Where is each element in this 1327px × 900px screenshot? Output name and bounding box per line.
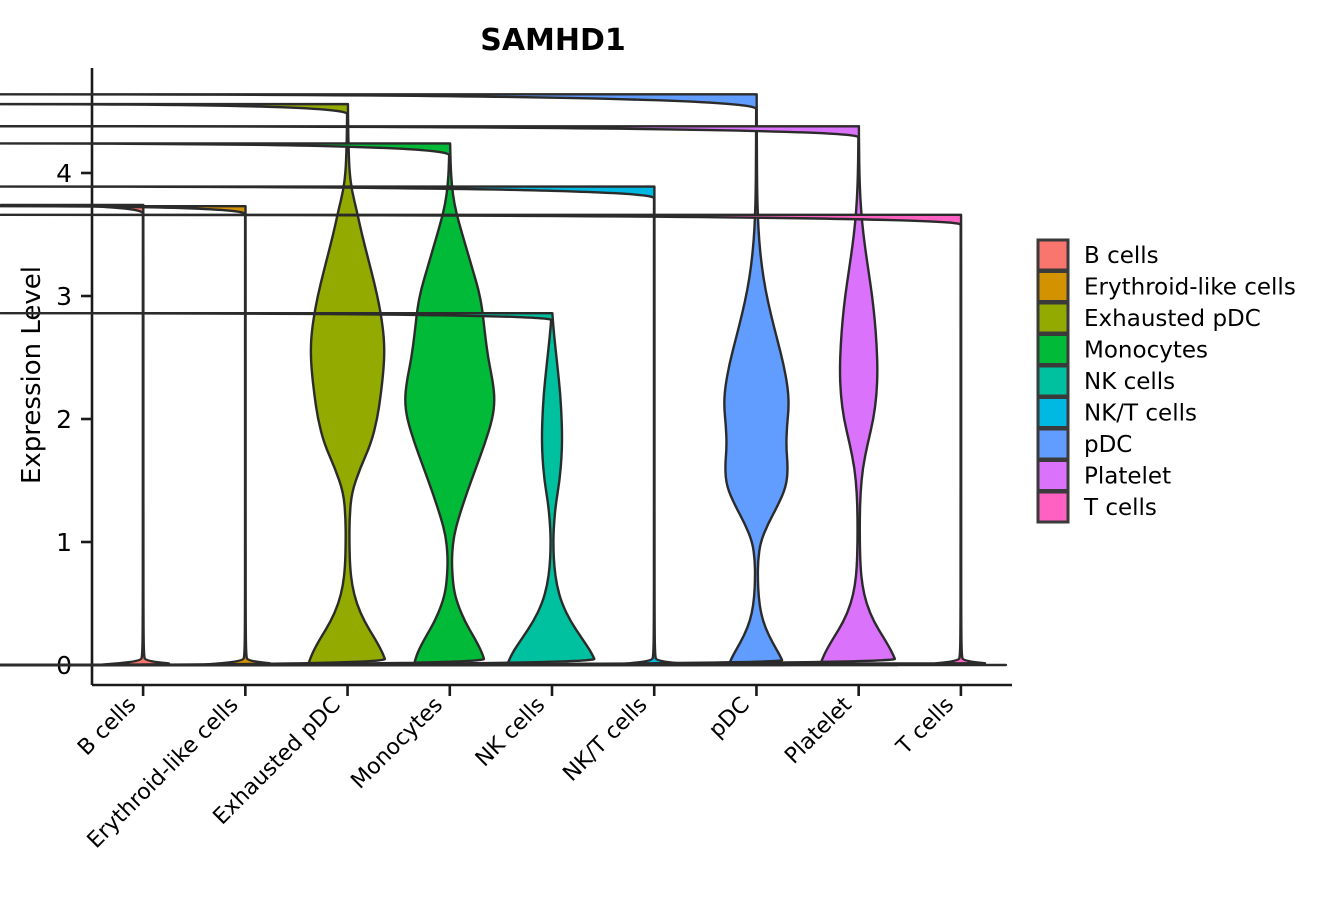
y-tick-label: 3 <box>56 282 72 311</box>
legend-swatch[interactable] <box>1038 429 1068 459</box>
legend-label: B cells <box>1084 243 1159 269</box>
y-tick-label: 2 <box>56 405 72 434</box>
legend-label: pDC <box>1084 432 1132 458</box>
legend-swatch[interactable] <box>1038 240 1068 270</box>
violin-plot-figure: SAMHD1 Expression Level 01234 B cellsEry… <box>0 0 1327 900</box>
figure-canvas: SAMHD1 Expression Level 01234 B cellsEry… <box>0 0 1327 900</box>
legend-swatch[interactable] <box>1038 492 1068 522</box>
legend-swatch[interactable] <box>1038 398 1068 428</box>
legend-label: Platelet <box>1084 464 1171 490</box>
legend-swatch[interactable] <box>1038 366 1068 396</box>
y-axis-title: Expression Level <box>17 266 47 484</box>
legend-label: T cells <box>1083 495 1157 521</box>
page-title: SAMHD1 <box>480 23 626 58</box>
legend-label: Monocytes <box>1084 338 1208 364</box>
legend-label: NK cells <box>1084 369 1175 395</box>
legend-label: NK/T cells <box>1084 401 1197 427</box>
y-tick-label: 1 <box>56 528 72 557</box>
legend-swatch[interactable] <box>1038 272 1068 302</box>
legend-label: Exhausted pDC <box>1084 306 1261 332</box>
legend-swatch[interactable] <box>1038 335 1068 365</box>
legend-label: Erythroid-like cells <box>1084 275 1296 301</box>
legend-swatch[interactable] <box>1038 303 1068 333</box>
y-tick-label: 4 <box>56 159 72 188</box>
legend-swatch[interactable] <box>1038 461 1068 491</box>
